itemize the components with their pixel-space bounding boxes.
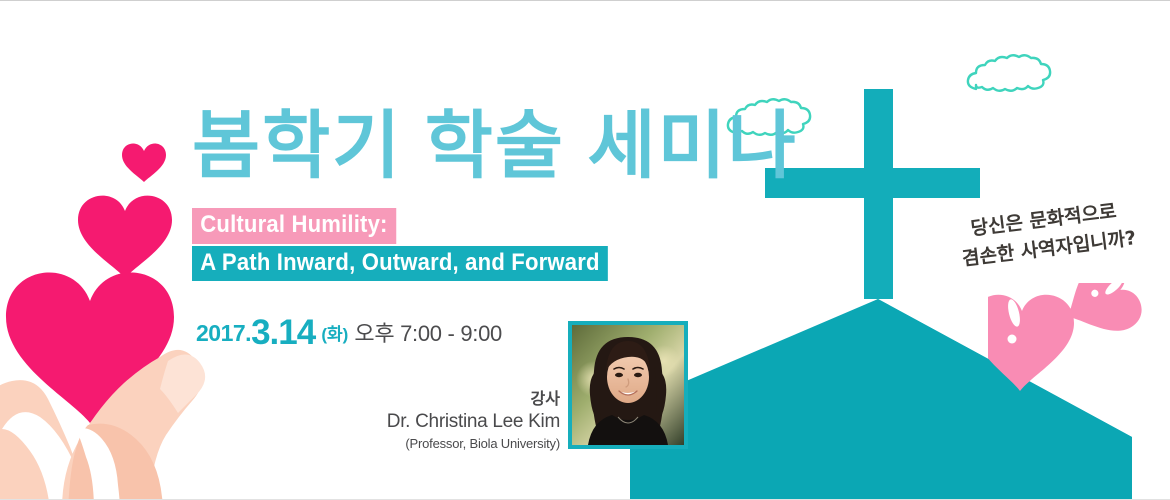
date-year: 2017. <box>196 320 251 346</box>
page-title: 봄학기 학술 세미나 <box>192 109 798 183</box>
speaker-portrait <box>568 321 688 449</box>
heart-icon <box>988 295 1074 391</box>
speaker-name: Dr. Christina Lee Kim <box>360 410 560 435</box>
subtitle-line-1: Cultural Humility: <box>192 208 396 244</box>
speaker-affiliation: (Professor, Biola University) <box>360 435 560 453</box>
heart-icon <box>78 196 172 278</box>
cross-icon <box>864 89 893 299</box>
seminar-poster: 봄학기 학술 세미나 Cultural Humility: A Path Inw… <box>0 0 1170 500</box>
subtitle-line-2: A Path Inward, Outward, and Forward <box>192 246 608 282</box>
speaker-role: 강사 <box>360 390 560 410</box>
speaker-block: 강사 Dr. Christina Lee Kim (Professor, Bio… <box>360 390 560 452</box>
date-weekday: (화) <box>321 325 348 344</box>
handwritten-question: 당신은 문화적으로 겸손한 사역자입니까? <box>935 193 1156 278</box>
event-date: 2017.3.14 (화) 오후 7:00 - 9:00 <box>196 313 502 353</box>
heart-pair <box>988 283 1148 393</box>
heart-icon <box>122 143 166 182</box>
date-time: 오후 7:00 - 9:00 <box>354 321 502 346</box>
subtitle-block: Cultural Humility: A Path Inward, Outwar… <box>192 208 644 281</box>
date-day: 3.14 <box>251 313 315 352</box>
cloud-icon <box>962 53 1066 109</box>
